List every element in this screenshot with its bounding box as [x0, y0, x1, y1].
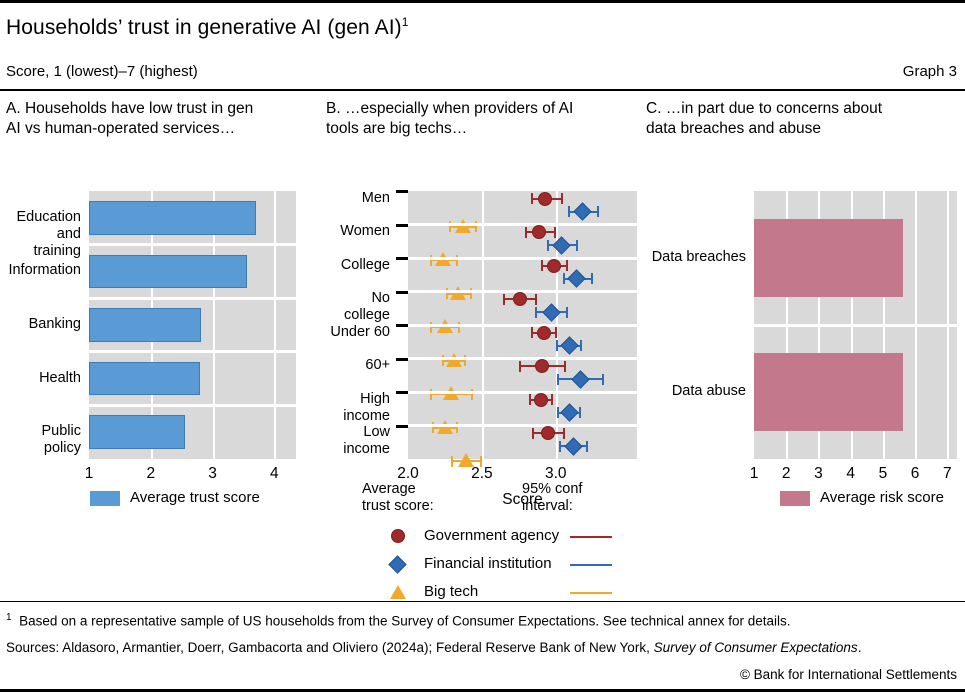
bar-data-abuse: [754, 353, 903, 431]
legend-label-average-risk-score: Average risk score: [820, 489, 944, 506]
ci-cap-low: [535, 307, 537, 318]
bar-information: [89, 255, 247, 289]
y-tick: [396, 224, 408, 227]
category-label: Low income: [326, 424, 390, 458]
x-tick-2.5: 2.5: [471, 465, 493, 483]
legend-marker-financial-institution: [388, 555, 406, 573]
panel-c-title: C. …in part due to concerns about data b…: [646, 99, 959, 139]
ci-cap-high: [564, 361, 566, 372]
y-tick: [396, 190, 408, 193]
row-separator: [89, 297, 296, 300]
ci-cap-high: [554, 227, 556, 238]
marker-government-agency: [547, 259, 561, 273]
copyright-line: © Bank for International Settlements: [740, 667, 957, 682]
row-separator: [408, 257, 637, 260]
sources-italic: Survey of Consumer Expectations: [654, 640, 858, 655]
bar-health: [89, 362, 200, 396]
category-label: 60+: [326, 357, 390, 374]
x-tick-4: 4: [270, 465, 279, 483]
bar-banking: [89, 308, 201, 342]
bar-data-breaches: [754, 219, 903, 297]
legend-ci-line-government-agency: [570, 536, 612, 538]
ci-cap-high: [602, 374, 604, 385]
legend-swatch-average-trust-score: [90, 491, 120, 506]
y-tick: [396, 358, 408, 361]
ci-cap-low: [541, 260, 543, 271]
category-label: Men: [326, 190, 390, 207]
footnote-divider: [0, 601, 965, 602]
ci-cap-low: [563, 273, 565, 284]
panel-a-title: A. Households have low trust in gen AI v…: [6, 99, 320, 139]
y-tick: [396, 257, 408, 260]
bar-public-policy: [89, 415, 185, 449]
sources-suffix: .: [858, 640, 862, 655]
page-title: Households’ trust in generative AI (gen …: [6, 15, 409, 40]
category-label: Education and training: [6, 209, 81, 260]
x-tick-1: 1: [85, 465, 94, 483]
ci-cap-low: [547, 240, 549, 251]
ci-cap-high: [566, 260, 568, 271]
x-tick-2: 2: [782, 465, 791, 483]
ci-cap-high: [580, 340, 582, 351]
ci-cap-low: [503, 294, 505, 305]
legend-label-government-agency: Government agency: [424, 527, 559, 544]
category-label: High income: [326, 391, 390, 425]
x-tick-1: 1: [750, 465, 759, 483]
ci-cap-low: [532, 428, 534, 439]
x-tick-7: 7: [943, 465, 952, 483]
gridline-4: [274, 191, 276, 459]
marker-government-agency: [534, 393, 548, 407]
header-divider: [0, 89, 965, 91]
footnote-1: 1 Based on a representative sample of US…: [6, 609, 791, 631]
y-tick: [396, 324, 408, 327]
legend-ci-line-big-tech: [570, 592, 612, 594]
ci-cap-low: [525, 227, 527, 238]
sources-prefix: Sources: Aldasoro, Armantier, Doerr, Gam…: [6, 640, 654, 655]
ci-cap-low: [559, 441, 561, 452]
category-label: Information: [6, 262, 81, 279]
marker-government-agency: [537, 326, 551, 340]
ci-cap-high: [551, 394, 553, 405]
ci-cap-high: [535, 294, 537, 305]
units-subtitle: Score, 1 (lowest)–7 (highest): [6, 63, 198, 80]
panel-b-title: B. …especially when providers of AI tool…: [326, 99, 640, 139]
row-separator: [408, 223, 637, 226]
row-separator: [754, 324, 957, 327]
row-separator: [89, 243, 296, 246]
legend-label-big-tech: Big tech: [424, 583, 478, 600]
ci-cap-high: [563, 428, 565, 439]
sources-line: Sources: Aldasoro, Armantier, Doerr, Gam…: [6, 639, 861, 657]
ci-cap-high: [566, 307, 568, 318]
legend-label-average-trust-score: Average trust score: [130, 489, 260, 506]
ci-cap-low: [557, 374, 559, 385]
footnote-marker: 1: [6, 612, 12, 623]
category-label: No college: [326, 290, 390, 324]
y-tick: [396, 391, 408, 394]
ci-cap-low: [451, 456, 453, 467]
ci-cap-low: [519, 361, 521, 372]
legend-marker-big-tech: [390, 585, 406, 599]
ci-cap-low: [556, 340, 558, 351]
legend-heading-ci: 95% conf interval:: [522, 481, 582, 515]
ci-cap-low: [557, 407, 559, 418]
category-label: Under 60: [326, 324, 390, 341]
row-separator: [89, 404, 296, 407]
ci-cap-low: [568, 206, 570, 217]
ci-cap-low: [531, 327, 533, 338]
category-label: Public policy: [6, 423, 81, 457]
ci-cap-high: [586, 441, 588, 452]
graph-number: Graph 3: [903, 63, 957, 80]
category-label: College: [326, 257, 390, 274]
graph-page: Households’ trust in generative AI (gen …: [0, 0, 965, 692]
x-tick-4: 4: [846, 465, 855, 483]
ci-cap-low: [529, 394, 531, 405]
bar-education-and-training: [89, 201, 256, 235]
legend-swatch-average-risk-score: [780, 491, 810, 506]
legend-heading-marker: Average trust score:: [362, 481, 434, 515]
legend-label-financial-institution: Financial institution: [424, 555, 552, 572]
x-tick-3: 3: [208, 465, 217, 483]
y-tick: [396, 425, 408, 428]
ci-cap-high: [579, 407, 581, 418]
category-label: Women: [326, 223, 390, 240]
row-separator: [408, 391, 637, 394]
row-separator: [89, 350, 296, 353]
category-label: Data breaches: [646, 249, 746, 266]
category-label: Health: [6, 370, 81, 387]
panel-b: B. …especially when providers of AI tool…: [326, 99, 640, 139]
x-tick-2: 2: [146, 465, 155, 483]
title-footnote-marker: 1: [402, 15, 409, 29]
footnote-text: Based on a representative sample of US h…: [19, 614, 790, 629]
y-tick: [396, 291, 408, 294]
ci-cap-low: [531, 193, 533, 204]
legend-ci-line-financial-institution: [570, 564, 612, 566]
ci-cap-high: [555, 327, 557, 338]
panel-c: C. …in part due to concerns about data b…: [646, 99, 959, 139]
ci-cap-high: [561, 193, 563, 204]
ci-cap-high: [576, 240, 578, 251]
ci-cap-high: [597, 206, 599, 217]
legend-marker-government-agency: [391, 529, 405, 543]
page-title-text: Households’ trust in generative AI (gen …: [6, 16, 402, 39]
row-separator: [408, 357, 637, 360]
ci-cap-high: [591, 273, 593, 284]
x-tick-5: 5: [879, 465, 888, 483]
row-separator: [408, 424, 637, 427]
row-separator: [408, 324, 637, 327]
category-label: Data abuse: [646, 383, 746, 400]
x-tick-3: 3: [814, 465, 823, 483]
x-tick-6: 6: [911, 465, 920, 483]
panel-a: A. Households have low trust in gen AI v…: [6, 99, 320, 139]
category-label: Banking: [6, 316, 81, 333]
